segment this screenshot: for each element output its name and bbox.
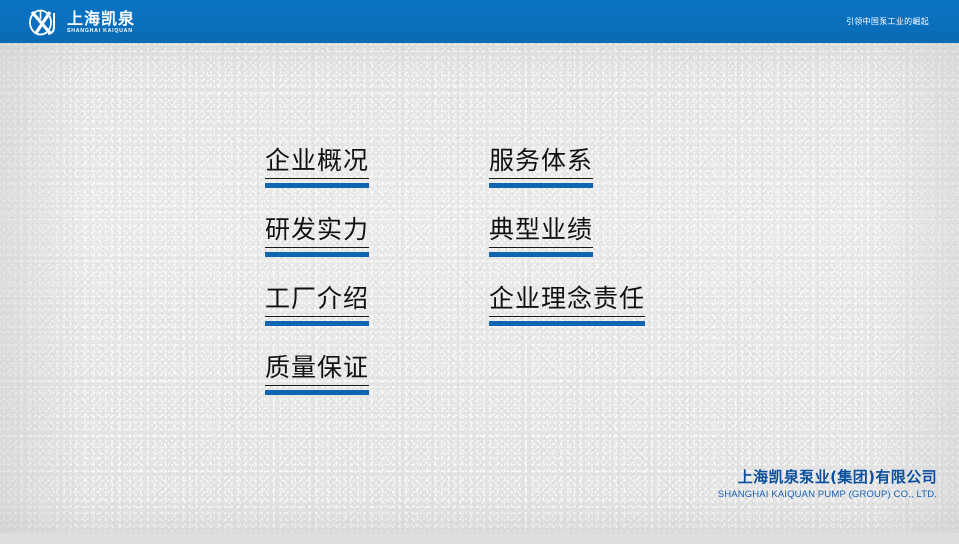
menu-item-accent-bar xyxy=(265,252,369,257)
header-tagline: 引领中国泵工业的崛起 xyxy=(846,0,929,43)
menu-item-accent-bar xyxy=(489,183,593,188)
menu-item-label: 质量保证 xyxy=(265,353,369,386)
header-bar: 上海凯泉 SHANGHAI KAIQUAN 引领中国泵工业的崛起 xyxy=(0,0,959,43)
menu-cell: 服务体系 xyxy=(489,146,735,215)
menu-item-label: 企业概况 xyxy=(265,146,369,179)
agenda-menu: 企业概况 服务体系 研发实力 典型业绩 工厂介绍 xyxy=(265,146,735,422)
brand-logo[interactable]: 上海凯泉 SHANGHAI KAIQUAN xyxy=(26,8,135,36)
menu-item-service-system[interactable]: 服务体系 xyxy=(489,146,593,188)
menu-item-company-overview[interactable]: 企业概况 xyxy=(265,146,369,188)
menu-item-quality-assurance[interactable]: 质量保证 xyxy=(265,353,369,395)
brand-name-cn: 上海凯泉 xyxy=(67,11,135,27)
menu-item-label: 工厂介绍 xyxy=(265,284,369,317)
menu-cell: 典型业绩 xyxy=(489,215,735,284)
menu-item-label: 典型业绩 xyxy=(489,215,593,248)
footer-company-name-cn: 上海凯泉泵业(集团)有限公司 xyxy=(718,468,937,487)
menu-cell: 质量保证 xyxy=(265,353,489,422)
menu-item-factory-introduction[interactable]: 工厂介绍 xyxy=(265,284,369,326)
menu-item-accent-bar xyxy=(265,390,369,395)
brand-logo-wordmark: 上海凯泉 SHANGHAI KAIQUAN xyxy=(67,11,135,34)
kaiquan-logo-mark-icon xyxy=(26,9,62,36)
menu-item-label: 服务体系 xyxy=(489,146,593,179)
brand-name-en: SHANGHAI KAIQUAN xyxy=(67,29,138,34)
menu-cell: 工厂介绍 xyxy=(265,284,489,353)
menu-cell: 企业理念责任 xyxy=(489,284,735,353)
menu-item-accent-bar xyxy=(489,252,593,257)
menu-item-accent-bar xyxy=(265,183,369,188)
presentation-slide: 上海凯泉 SHANGHAI KAIQUAN 引领中国泵工业的崛起 企业概况 服务… xyxy=(0,0,959,544)
menu-item-accent-bar xyxy=(265,321,369,326)
menu-item-typical-performance[interactable]: 典型业绩 xyxy=(489,215,593,257)
menu-item-accent-bar xyxy=(489,321,645,326)
menu-item-label: 研发实力 xyxy=(265,215,369,248)
slide-bottom-band xyxy=(0,533,959,544)
menu-cell: 研发实力 xyxy=(265,215,489,284)
menu-item-corporate-philosophy-responsibility[interactable]: 企业理念责任 xyxy=(489,284,645,326)
footer-company-name-en: SHANGHAI KAIQUAN PUMP (GROUP) CO., LTD. xyxy=(718,488,937,501)
menu-item-rd-strength[interactable]: 研发实力 xyxy=(265,215,369,257)
menu-item-label: 企业理念责任 xyxy=(489,284,645,317)
footer-company-signature: 上海凯泉泵业(集团)有限公司 SHANGHAI KAIQUAN PUMP (GR… xyxy=(718,468,937,501)
menu-cell: 企业概况 xyxy=(265,146,489,215)
